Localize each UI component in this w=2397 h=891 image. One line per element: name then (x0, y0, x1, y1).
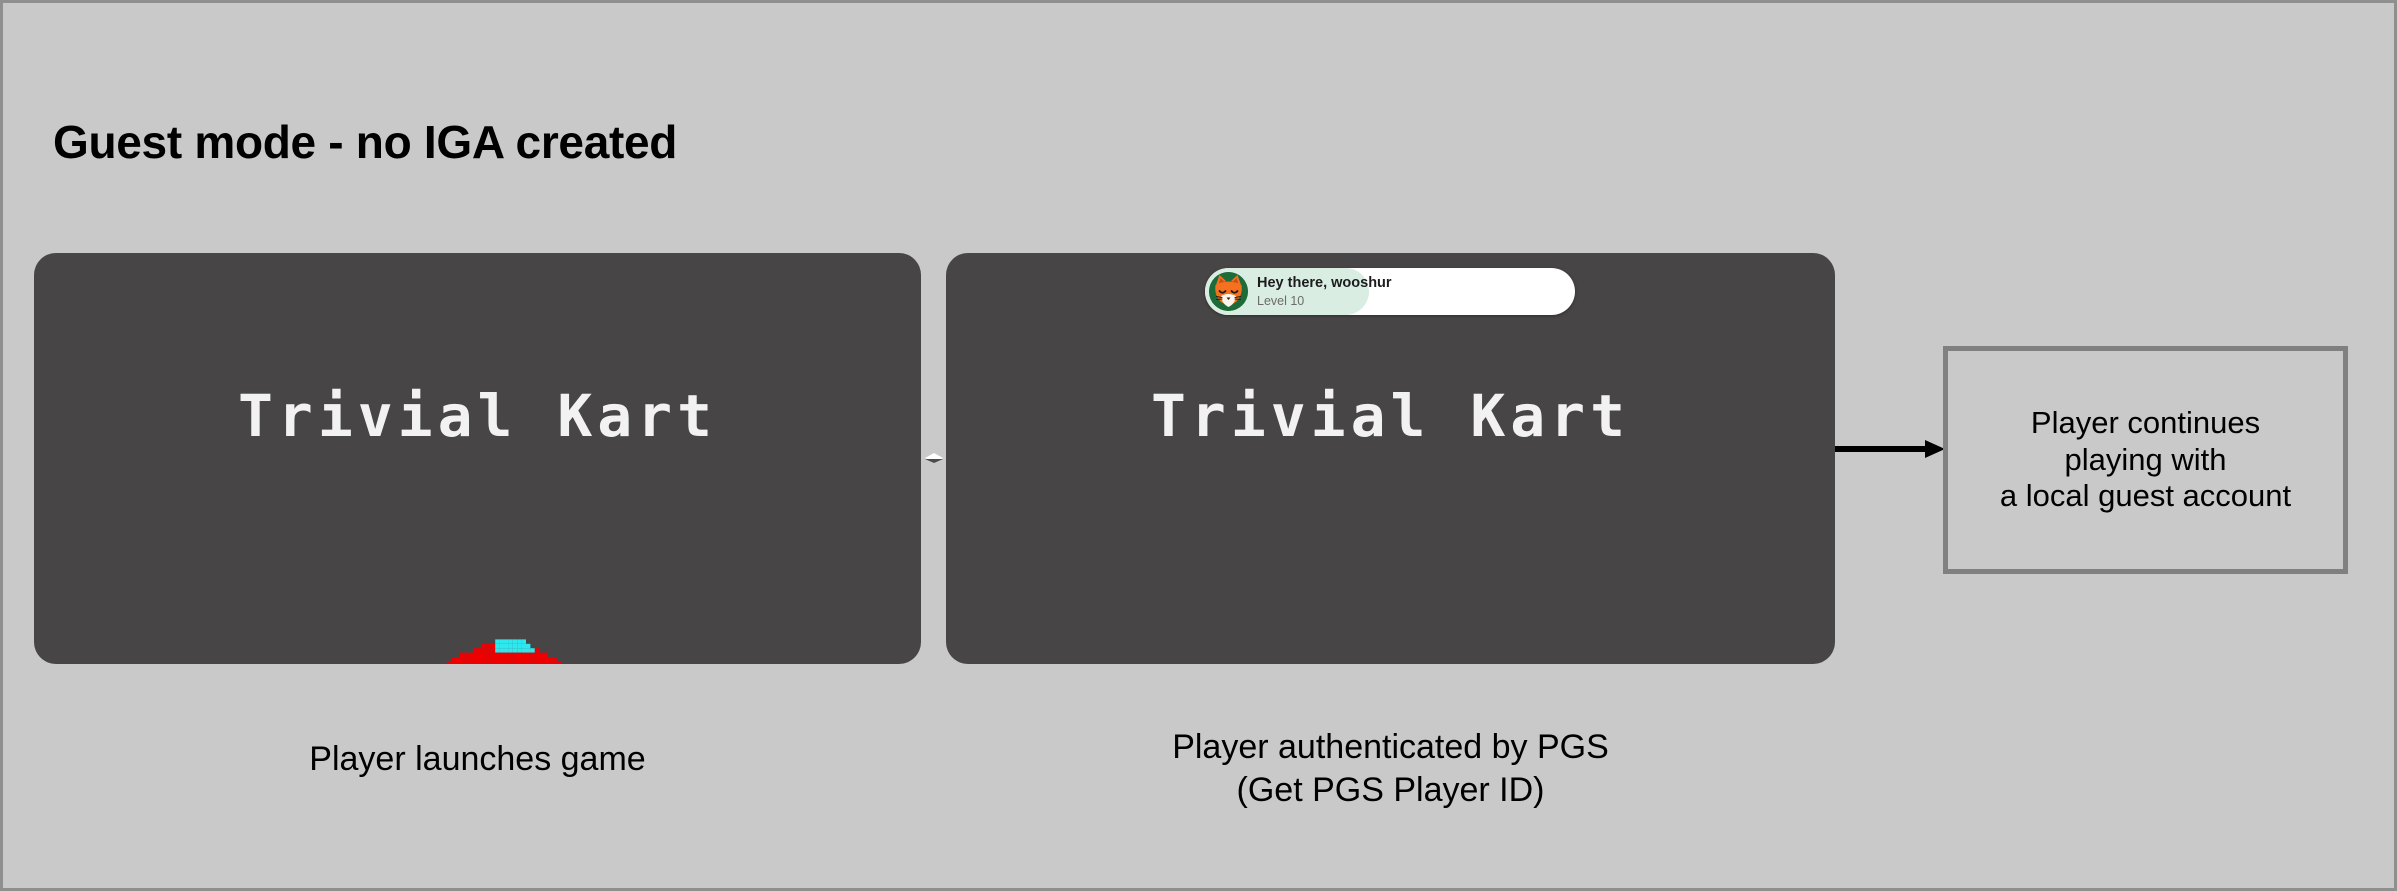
page-title: Guest mode - no IGA created (53, 115, 677, 169)
toast-text-block: Hey there, wooshur Level 10 (1257, 276, 1392, 307)
panel-1-caption: Player launches game (34, 738, 921, 781)
pixel-car-icon (438, 635, 442, 639)
panel-2-caption: Player authenticated by PGS (Get PGS Pla… (946, 726, 1835, 811)
diamond-connector-icon (921, 443, 947, 473)
pgs-welcome-toast[interactable]: Hey there, wooshur Level 10 (1205, 268, 1575, 315)
diagram-canvas: Guest mode - no IGA created Trivial Kart… (0, 0, 2397, 891)
fox-avatar-icon (1209, 272, 1248, 311)
game-logo-text-1: Trivial Kart (34, 382, 921, 450)
game-logo-text-2: Trivial Kart (946, 382, 1835, 450)
result-callout-text: Player continues playing with a local gu… (2000, 405, 2291, 516)
arrow-right-icon (1835, 435, 1945, 463)
toast-level-label: Level 10 (1257, 295, 1392, 308)
toast-title: Hey there, wooshur (1257, 276, 1392, 291)
result-callout-box: Player continues playing with a local gu… (1943, 346, 2348, 574)
pixel-car-grid (438, 635, 570, 664)
game-screenshot-panel-1: Trivial Kart (34, 253, 921, 664)
